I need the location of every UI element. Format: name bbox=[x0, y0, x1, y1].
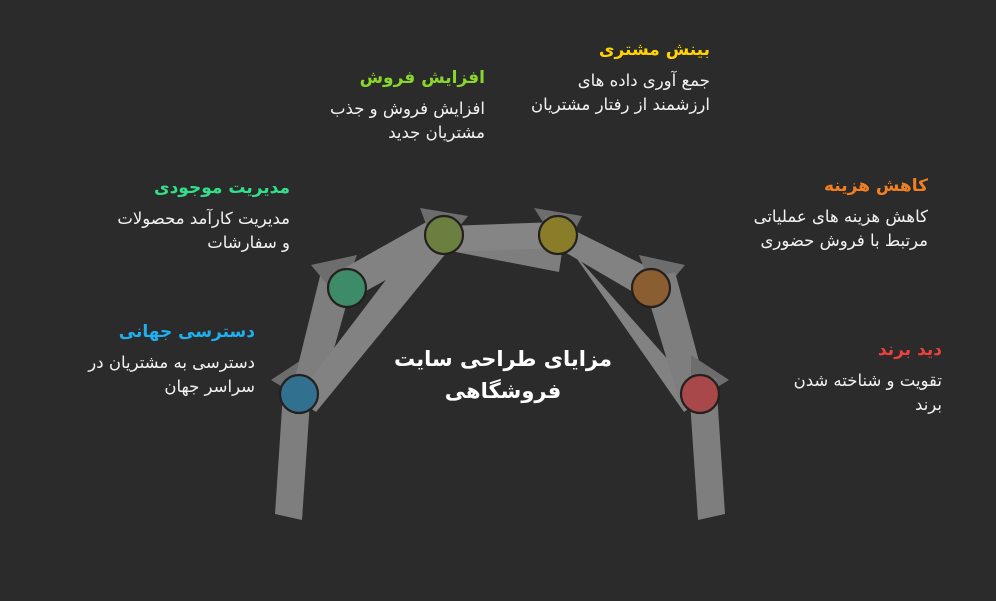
callout-title-inventory: مدیریت موجودی bbox=[110, 178, 290, 199]
callout-title-sales-growth: افزایش فروش bbox=[300, 68, 485, 89]
infographic-canvas: مزایای طراحی سایت فروشگاهی بینش مشتری جم… bbox=[0, 0, 996, 601]
callout-body-global-access: دسترسی به مشتریان در سراسر جهان bbox=[80, 351, 255, 399]
callout-global-access: دسترسی جهانی دسترسی به مشتریان در سراسر … bbox=[80, 322, 255, 399]
callout-title-global-access: دسترسی جهانی bbox=[80, 322, 255, 343]
center-title: مزایای طراحی سایت فروشگاهی bbox=[368, 344, 638, 407]
callout-customer-insight: بینش مشتری جمع آوری داده های ارزشمند از … bbox=[520, 40, 710, 117]
callout-brand-visibility: دید برند تقویت و شناخته شدن برند bbox=[762, 340, 942, 417]
callout-title-cost-reduction: کاهش هزینه bbox=[728, 176, 928, 197]
node-customer-insight[interactable] bbox=[539, 216, 577, 254]
callout-body-cost-reduction: کاهش هزینه های عملیاتی مرتبط با فروش حضو… bbox=[728, 205, 928, 253]
callout-inventory: مدیریت موجودی مدیریت کارآمد محصولات و سف… bbox=[110, 178, 290, 255]
callout-cost-reduction: کاهش هزینه کاهش هزینه های عملیاتی مرتبط … bbox=[728, 176, 928, 253]
arch-diagram bbox=[0, 0, 996, 601]
callout-body-brand-visibility: تقویت و شناخته شدن برند bbox=[762, 369, 942, 417]
callout-title-customer-insight: بینش مشتری bbox=[520, 40, 710, 61]
node-brand-visibility[interactable] bbox=[681, 375, 719, 413]
node-sales-growth[interactable] bbox=[425, 216, 463, 254]
callout-sales-growth: افزایش فروش افزایش فروش و جذب مشتریان جد… bbox=[300, 68, 485, 145]
node-global-access[interactable] bbox=[280, 375, 318, 413]
callout-body-sales-growth: افزایش فروش و جذب مشتریان جدید bbox=[300, 97, 485, 145]
node-inventory[interactable] bbox=[328, 269, 366, 307]
callout-body-inventory: مدیریت کارآمد محصولات و سفارشات bbox=[110, 207, 290, 255]
node-cost-reduction[interactable] bbox=[632, 269, 670, 307]
callout-title-brand-visibility: دید برند bbox=[762, 340, 942, 361]
callout-body-customer-insight: جمع آوری داده های ارزشمند از رفتار مشتری… bbox=[520, 69, 710, 117]
